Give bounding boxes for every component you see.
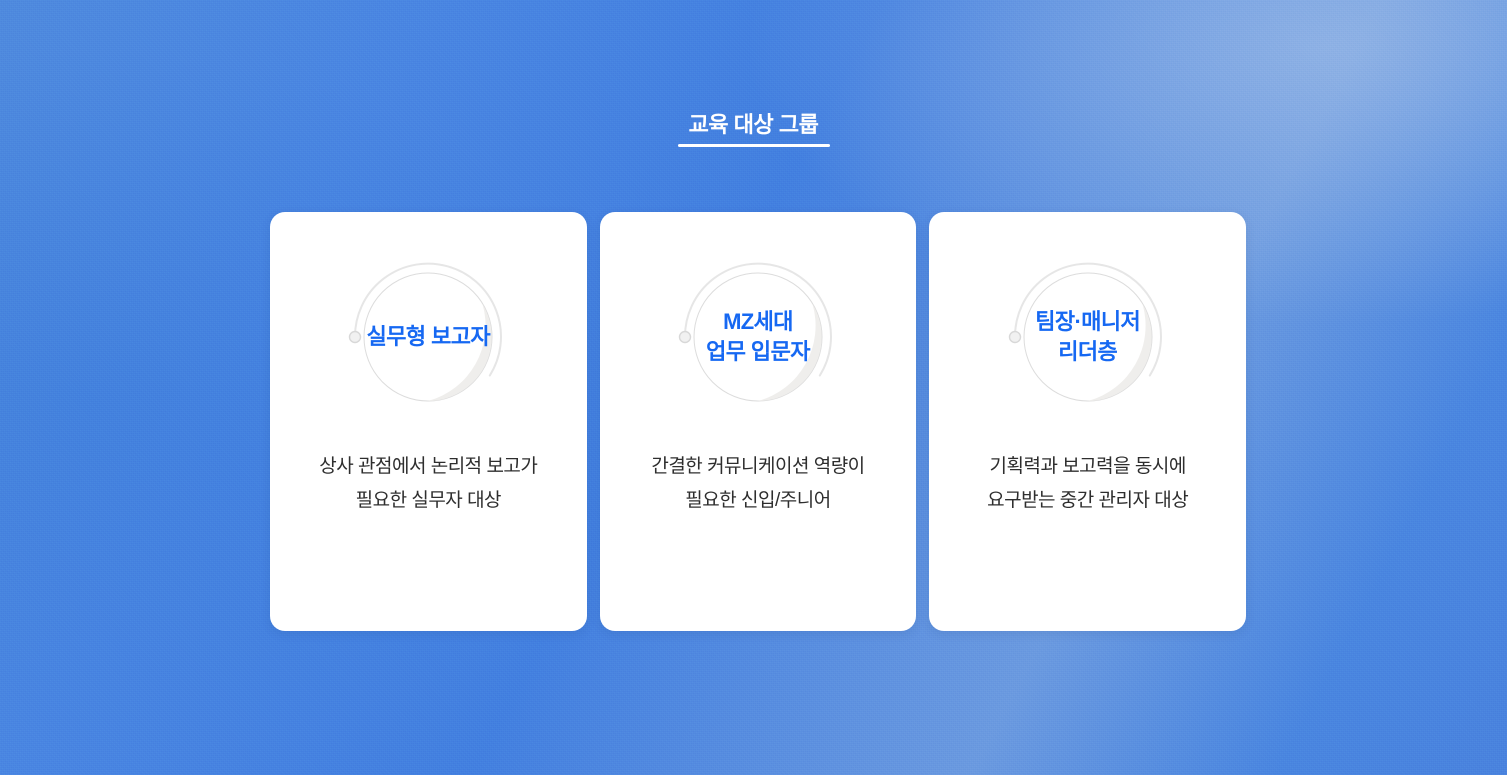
persona-description: 기획력과 보고력을 동시에 요구받는 중간 관리자 대상 <box>949 450 1226 518</box>
persona-label-line: 리더층 <box>1058 337 1117 367</box>
persona-label: MZ세대 업무 입문자 <box>673 252 843 422</box>
persona-card[interactable]: MZ세대 업무 입문자 간결한 커뮤니케이션 역량이 필요한 신입/주니어 <box>600 212 917 631</box>
persona-card[interactable]: 팀장·매니저 리더층 기획력과 보고력을 동시에 요구받는 중간 관리자 대상 <box>929 212 1246 631</box>
persona-description: 간결한 커뮤니케이션 역량이 필요한 신입/주니어 <box>620 450 897 518</box>
persona-label-line: MZ세대 <box>723 307 793 337</box>
persona-label: 팀장·매니저 리더층 <box>1003 252 1173 422</box>
persona-label: 실무형 보고자 <box>343 252 513 422</box>
persona-ring-badge: 실무형 보고자 <box>343 252 513 422</box>
section-heading: 교육 대상 그룹 <box>0 111 1507 139</box>
persona-card-row: 실무형 보고자 상사 관점에서 논리적 보고가 필요한 실무자 대상 MZ세대 … <box>270 212 1246 631</box>
persona-ring-badge: 팀장·매니저 리더층 <box>1003 252 1173 422</box>
slide-stage: 교육 대상 그룹 실무형 보고자 상사 관점에서 논리적 보고가 필요한 실무자… <box>0 0 1507 775</box>
persona-label-line: 팀장·매니저 <box>1035 307 1140 337</box>
page-title: 교육 대상 그룹 <box>689 111 819 139</box>
persona-description: 상사 관점에서 논리적 보고가 필요한 실무자 대상 <box>290 450 567 518</box>
title-underline-rule <box>678 144 830 147</box>
persona-label-line: 업무 입문자 <box>706 337 810 367</box>
persona-card[interactable]: 실무형 보고자 상사 관점에서 논리적 보고가 필요한 실무자 대상 <box>270 212 587 631</box>
persona-label-line: 실무형 보고자 <box>367 322 490 352</box>
persona-ring-badge: MZ세대 업무 입문자 <box>673 252 843 422</box>
